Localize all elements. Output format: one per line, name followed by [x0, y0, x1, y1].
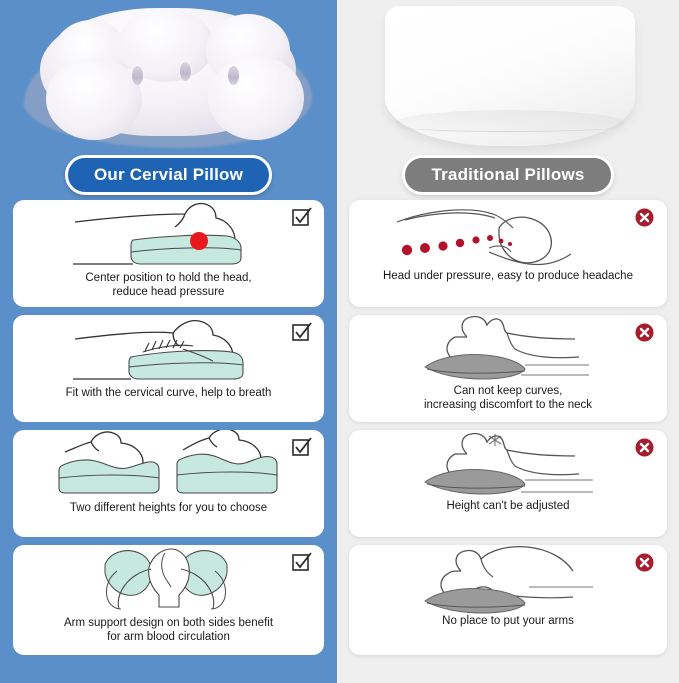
our-pillow-cards: Center position to hold the head, reduce…: [0, 200, 337, 655]
traditional-pillow-cards: Head under pressure, easy to produce hea…: [337, 200, 679, 655]
feature-card-arm-support: Arm support design on both sides benefit…: [13, 545, 324, 655]
feature-card-two-heights: Two different heights for you to choose: [13, 430, 324, 537]
drawback-card-head-pressure: Head under pressure, easy to produce hea…: [349, 200, 667, 307]
our-pillow-panel: Our Cervial Pillow Center posi: [0, 0, 337, 683]
pillow-body: [40, 8, 296, 136]
illustration-flat-pillow-fixed-height: [349, 430, 667, 500]
illustration-flat-pillow-no-arm-space: [349, 545, 667, 615]
traditional-pillow-hero: Traditional Pillows: [337, 0, 679, 200]
caption-line-1: Height can't be adjusted: [359, 500, 657, 514]
illustration-two-pillow-heights: [13, 430, 324, 502]
caption-line-2: reduce head pressure: [23, 286, 314, 300]
circle-x-icon: [635, 323, 654, 342]
circle-x-icon: [635, 438, 654, 457]
drawback-card-no-arm-space: No place to put your arms: [349, 545, 667, 655]
feature-card-center-position: Center position to hold the head, reduce…: [13, 200, 324, 307]
illustration-head-pressure-dots: [349, 200, 667, 270]
our-pillow-hero: Our Cervial Pillow: [0, 0, 337, 200]
circle-x-icon: [635, 208, 654, 227]
drawback-card-fixed-height: Height can't be adjusted: [349, 430, 667, 537]
our-pillow-badge: Our Cervial Pillow: [65, 155, 272, 195]
traditional-pillow-badge: Traditional Pillows: [402, 155, 613, 195]
caption-line-2: increasing discomfort to the neck: [359, 399, 657, 413]
traditional-pillow-photo: [337, 0, 679, 160]
cervical-pillow-photo: [0, 0, 337, 160]
checkbox-checked-icon: [291, 206, 313, 228]
illustration-flat-pillow-no-curve: [349, 315, 667, 385]
feature-card-cervical-curve: Fit with the cervical curve, help to bre…: [13, 315, 324, 422]
caption-line-1: Head under pressure, easy to produce hea…: [359, 270, 657, 284]
illustration-side-sleeper-cervical-curve: [13, 315, 324, 387]
caption-line-1: No place to put your arms: [359, 615, 657, 629]
caption-line-2: for arm blood circulation: [23, 631, 314, 645]
checkbox-checked-icon: [291, 436, 313, 458]
comparison-board: Our Cervial Pillow Center posi: [0, 0, 679, 683]
caption-line-1: Center position to hold the head,: [23, 272, 314, 286]
circle-x-icon: [635, 553, 654, 572]
pressure-dot: [190, 232, 208, 250]
checkbox-checked-icon: [291, 551, 313, 573]
traditional-pillow-panel: Traditional Pillows: [337, 0, 679, 683]
drawback-card-no-curve: Can not keep curves, increasing discomfo…: [349, 315, 667, 422]
checkbox-checked-icon: [291, 321, 313, 343]
caption-line-1: Arm support design on both sides benefit: [23, 617, 314, 631]
caption-line-1: Fit with the cervical curve, help to bre…: [23, 387, 314, 401]
pillow-body: [385, 6, 635, 146]
caption-line-1: Two different heights for you to choose: [23, 502, 314, 516]
illustration-side-sleeper-head-centered: [13, 200, 324, 272]
caption-line-1: Can not keep curves,: [359, 385, 657, 399]
illustration-top-view-arm-support: [13, 545, 324, 617]
